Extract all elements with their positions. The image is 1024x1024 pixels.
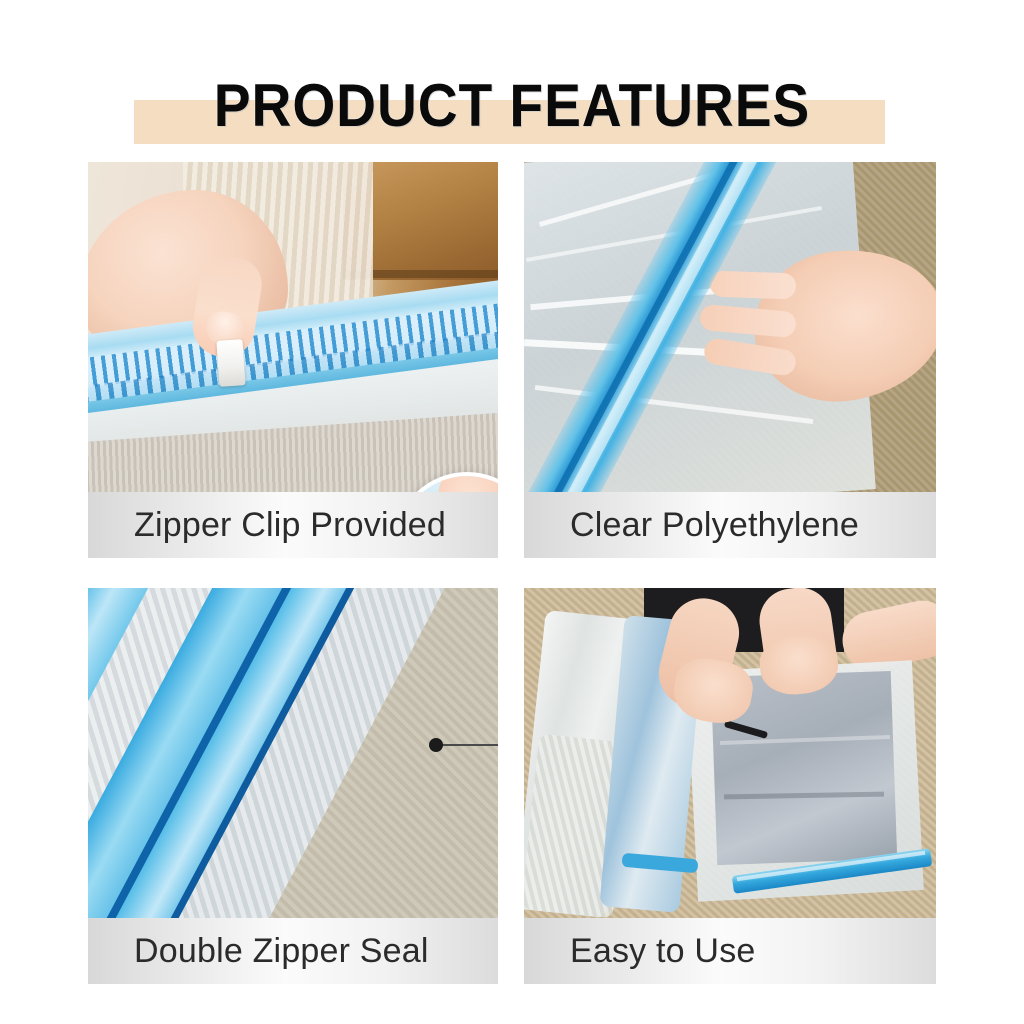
feature-caption-bar-3: Double Zipper Seal bbox=[88, 918, 498, 984]
feature-card-double-zipper-seal[interactable]: Double Zipper Seal bbox=[88, 588, 498, 984]
feature-caption-label-3: Double Zipper Seal bbox=[88, 932, 429, 971]
feature-caption-bar-2: Clear Polyethylene bbox=[524, 492, 936, 558]
callout-line bbox=[441, 744, 498, 746]
white-zipper-clip bbox=[216, 339, 245, 387]
feature-photo-easy-to-use bbox=[524, 588, 936, 918]
feature-photo-zipper-clip-provided bbox=[88, 162, 498, 492]
feature-card-easy-to-use[interactable]: Easy to Use bbox=[524, 588, 936, 984]
callout-dot-marker bbox=[429, 738, 443, 752]
feature-caption-bar-4: Easy to Use bbox=[524, 918, 936, 984]
page-title: PRODUCT FEATURES bbox=[41, 60, 983, 150]
inset-finger bbox=[438, 472, 498, 492]
feature-caption-label-4: Easy to Use bbox=[524, 932, 756, 971]
feature-card-clear-polyethylene[interactable]: Clear Polyethylene bbox=[524, 162, 936, 558]
finger bbox=[710, 271, 797, 300]
feature-caption-bar-1: Zipper Clip Provided bbox=[88, 492, 498, 558]
feature-photo-clear-polyethylene bbox=[524, 162, 936, 492]
page-header: PRODUCT FEATURES bbox=[0, 60, 1024, 150]
feature-photo-double-zipper-seal bbox=[88, 588, 498, 918]
feature-caption-label-1: Zipper Clip Provided bbox=[88, 506, 446, 545]
feature-card-zipper-clip-provided[interactable]: Zipper Clip Provided bbox=[88, 162, 498, 558]
feature-caption-label-2: Clear Polyethylene bbox=[524, 506, 859, 545]
infographic-page: PRODUCT FEATURES Zipper Clip bbox=[0, 0, 1024, 1024]
